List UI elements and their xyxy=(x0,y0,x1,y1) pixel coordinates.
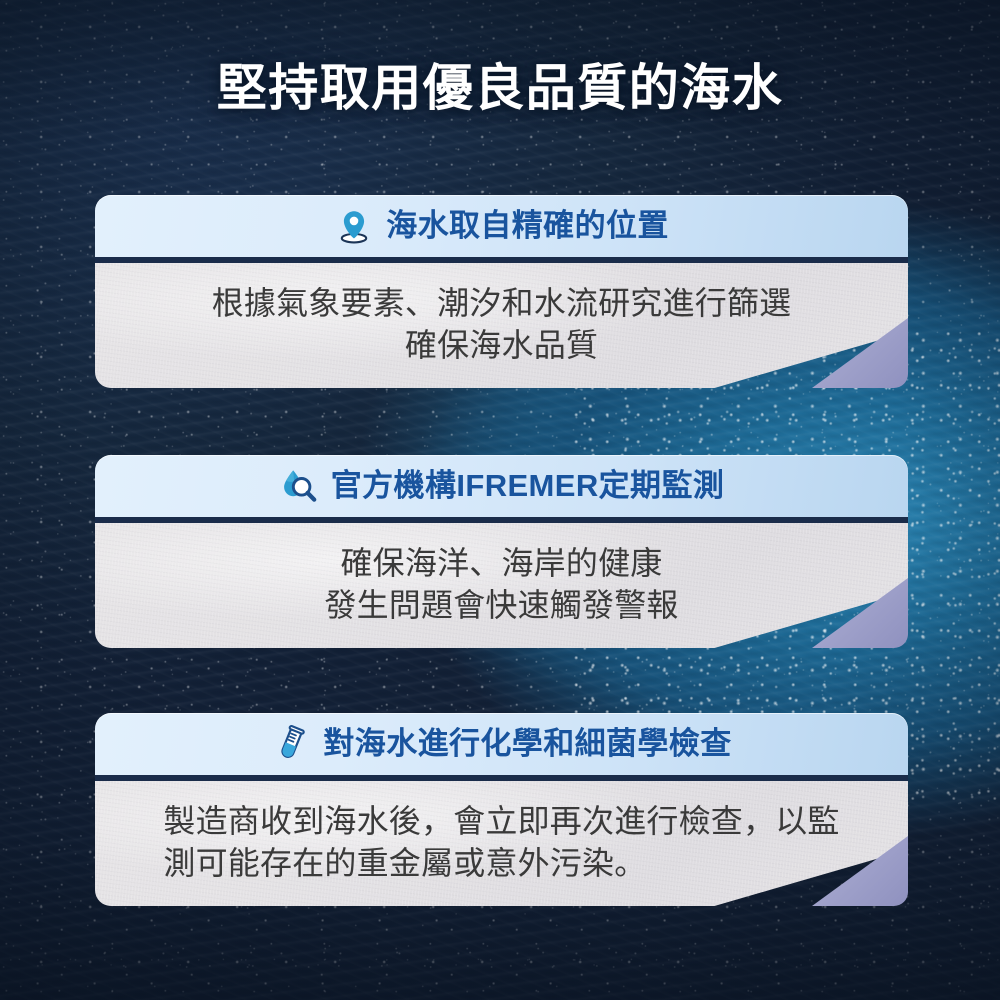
card-header-label: 對海水進行化學和細菌學檢查 xyxy=(323,728,731,759)
card-body: 製造商收到海水後，會立即再次進行檢查，以監 測可能存在的重金屬或意外污染。 xyxy=(95,781,908,906)
card-header: 官方機構IFREMER定期監測 xyxy=(95,455,908,523)
card-header: 對海水進行化學和細菌學檢查 xyxy=(95,713,908,781)
card-header-label: 官方機構IFREMER定期監測 xyxy=(331,470,725,501)
info-card-location: 海水取自精確的位置 根據氣象要素、潮汐和水流研究進行篩選 確保海水品質 xyxy=(95,195,908,388)
card-header-label: 海水取自精確的位置 xyxy=(386,210,669,241)
test-tube-icon xyxy=(271,724,311,764)
card-body: 根據氣象要素、潮汐和水流研究進行篩選 確保海水品質 xyxy=(95,263,908,388)
location-pin-icon xyxy=(334,206,374,246)
poster-root: 堅持取用優良品質的海水 海水取自精確的位置 根據氣象要素、潮汐和水流研究進行篩選… xyxy=(0,0,1000,1000)
info-card-lab-test: 對海水進行化學和細菌學檢查 製造商收到海水後，會立即再次進行檢查，以監 測可能存… xyxy=(95,713,908,906)
info-card-monitoring: 官方機構IFREMER定期監測 確保海洋、海岸的健康 發生問題會快速觸發警報 xyxy=(95,455,908,648)
card-body-text: 根據氣象要素、潮汐和水流研究進行篩選 確保海水品質 xyxy=(212,283,792,366)
card-header: 海水取自精確的位置 xyxy=(95,195,908,263)
page-title: 堅持取用優良品質的海水 xyxy=(0,60,1000,116)
water-drop-magnifier-icon xyxy=(279,466,319,506)
card-body-text: 製造商收到海水後，會立即再次進行檢查，以監 測可能存在的重金屬或意外污染。 xyxy=(163,801,839,884)
card-body-text: 確保海洋、海岸的健康 發生問題會快速觸發警報 xyxy=(324,543,678,626)
card-body: 確保海洋、海岸的健康 發生問題會快速觸發警報 xyxy=(95,523,908,648)
